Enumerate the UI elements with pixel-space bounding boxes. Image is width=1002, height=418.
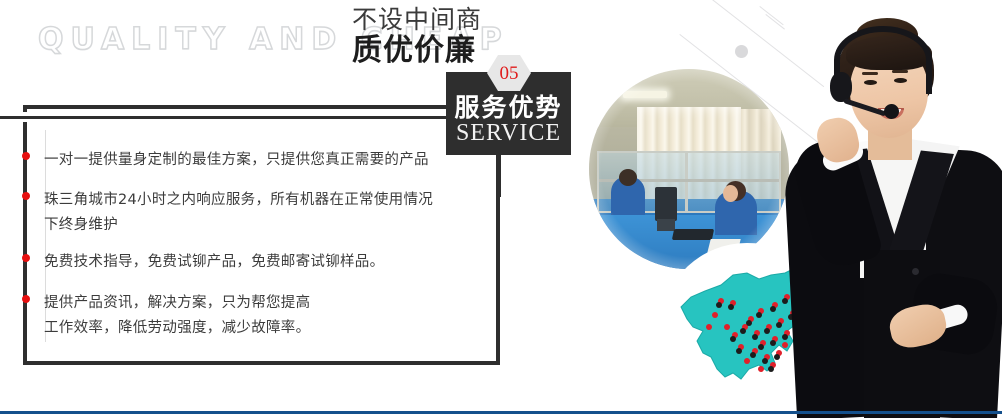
- list-item-text: 提供产品资讯，解决方案，只为帮您提高 工作效率，降低劳动强度，减少故障率。: [44, 291, 310, 341]
- bullet-icon: [22, 295, 30, 303]
- operator-jacket-button: [912, 268, 919, 275]
- list-item-line-2: 下终身维护: [44, 213, 433, 238]
- list-item-line-2: 工作效率，降低劳动强度，减少故障率。: [44, 316, 310, 341]
- badge-stem-line: [497, 155, 501, 197]
- bullet-icon: [22, 152, 30, 160]
- list-item-line-1: 提供产品资讯，解决方案，只为帮您提高: [44, 295, 310, 311]
- bottom-divider: [0, 411, 1002, 414]
- bullet-icon: [22, 254, 30, 262]
- decorative-diagonal-line-3: [759, 6, 783, 25]
- badge-number: 05: [487, 55, 531, 91]
- list-item-line-1: 珠三角城市24小时之内响应服务，所有机器在正常使用情况: [44, 192, 433, 208]
- badge-connector-line: [0, 116, 448, 119]
- list-item-text: 免费技术指导，免费试铆产品，免费邮寄试铆样品。: [44, 250, 384, 275]
- headset-microphone: [884, 104, 899, 119]
- decorative-diagonal-line-4: [765, 14, 785, 30]
- list-item-text: 一对一提供量身定制的最佳方案，只提供您真正需要的产品: [44, 148, 429, 173]
- list-item-text: 珠三角城市24小时之内响应服务，所有机器在正常使用情况 下终身维护: [44, 188, 433, 238]
- service-advantage-banner: QUALITY AND CHEAP 不设中间商 质优价廉 一对一提供量身定制的最…: [0, 0, 1002, 418]
- badge-number-hexagon: 05: [487, 55, 531, 91]
- call-center-office-photo: [589, 69, 789, 269]
- badge-title-cn: 服务优势: [446, 88, 571, 124]
- photo-vignette: [589, 69, 789, 269]
- headset-earcup: [830, 72, 852, 102]
- bullet-icon: [22, 192, 30, 200]
- decorative-dot: [735, 45, 748, 58]
- badge-title-en: SERVICE: [446, 120, 571, 147]
- customer-service-operator-photo: [786, 0, 1002, 418]
- advantages-list: 一对一提供量身定制的最佳方案，只提供您真正需要的产品 珠三角城市24小时之内响应…: [0, 0, 477, 260]
